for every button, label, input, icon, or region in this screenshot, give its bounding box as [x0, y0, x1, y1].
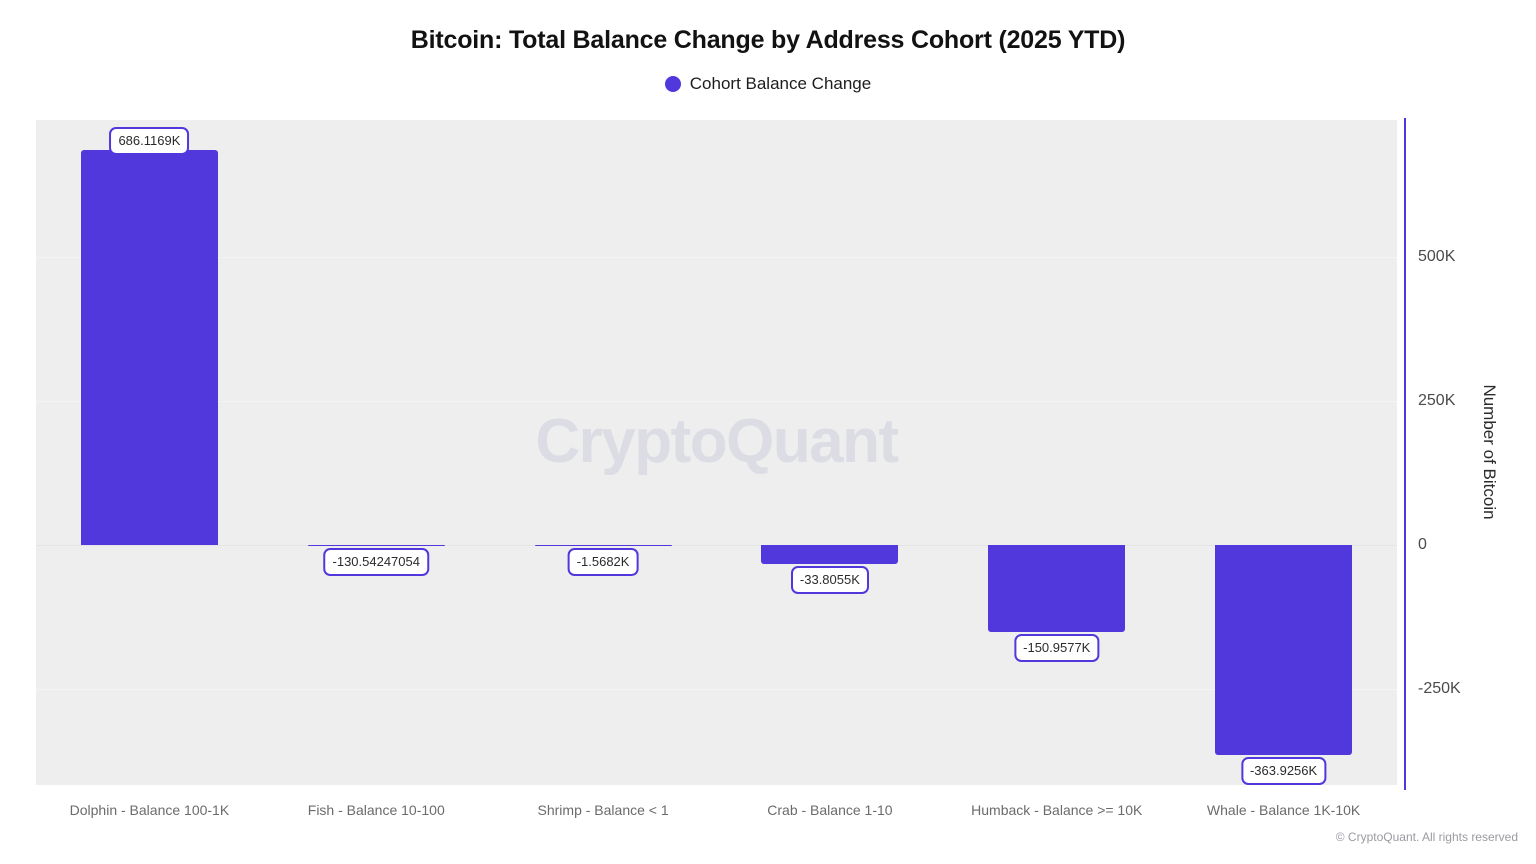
bar[interactable]: [308, 545, 445, 546]
y-axis-tick-label: 500K: [1418, 248, 1455, 266]
chart-legend: Cohort Balance Change: [0, 74, 1536, 94]
copyright-notice: © CryptoQuant. All rights reserved: [1336, 830, 1518, 844]
gridline: [36, 689, 1397, 690]
y-axis-line: [1404, 118, 1406, 790]
y-axis-tick-label: 0: [1418, 536, 1427, 554]
x-axis-tick-label: Crab - Balance 1-10: [767, 802, 892, 818]
bar-data-label: -363.9256K: [1241, 757, 1326, 785]
x-axis-tick-label: Humback - Balance >= 10K: [971, 802, 1142, 818]
bar[interactable]: [988, 545, 1125, 632]
chart-container: Bitcoin: Total Balance Change by Address…: [0, 0, 1536, 864]
legend-item-label: Cohort Balance Change: [690, 74, 871, 94]
y-axis-tick-label: -250K: [1418, 680, 1461, 698]
gridline: [36, 401, 1397, 402]
y-axis-tick-label: 250K: [1418, 392, 1455, 410]
x-axis-tick-label: Shrimp - Balance < 1: [538, 802, 669, 818]
chart-title: Bitcoin: Total Balance Change by Address…: [0, 26, 1536, 55]
plot-area: CryptoQuant: [36, 120, 1397, 785]
bar-data-label: -33.8055K: [791, 566, 869, 594]
legend-marker-icon: [665, 76, 681, 92]
bar-data-label: -130.54247054: [324, 548, 429, 576]
watermark: CryptoQuant: [36, 406, 1397, 477]
zero-gridline: [36, 545, 1397, 546]
bar-data-label: -150.9577K: [1014, 634, 1099, 662]
bar[interactable]: [1215, 545, 1352, 755]
x-axis-tick-label: Whale - Balance 1K-10K: [1207, 802, 1360, 818]
bar[interactable]: [81, 150, 218, 545]
x-axis-tick-label: Fish - Balance 10-100: [308, 802, 445, 818]
x-axis-tick-label: Dolphin - Balance 100-1K: [70, 802, 230, 818]
y-axis-title: Number of Bitcoin: [1479, 384, 1499, 519]
gridline: [36, 257, 1397, 258]
bar[interactable]: [761, 545, 898, 564]
bar[interactable]: [535, 545, 672, 546]
bar-data-label: 686.1169K: [109, 127, 189, 155]
bar-data-label: -1.5682K: [568, 548, 639, 576]
